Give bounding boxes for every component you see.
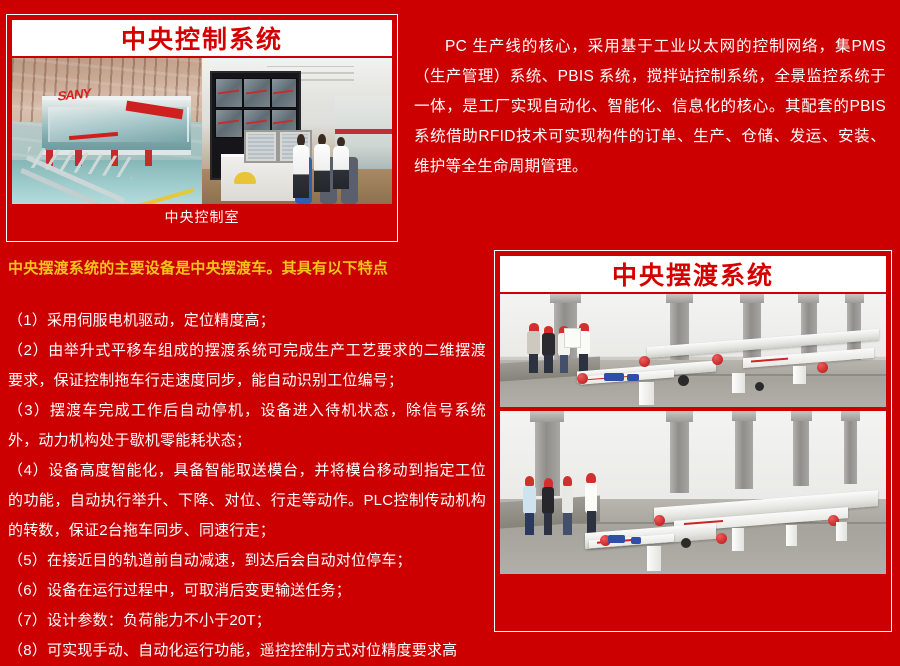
control-room-caption: 中央控制室 xyxy=(12,207,392,227)
panel-central-ferry-system: 中央摆渡系统 xyxy=(494,250,892,632)
feature-item: （7）设计参数：负荷能力不小于20T； xyxy=(8,606,486,636)
worker-figure xyxy=(542,326,554,373)
control-room-photo: SANY xyxy=(12,58,392,204)
feature-item: （6）设备在运行过程中，可取消后变更输送任务； xyxy=(8,576,486,606)
drawing-board xyxy=(564,328,581,348)
worker-figure xyxy=(542,478,554,535)
control-system-title-bar: 中央控制系统 xyxy=(12,20,392,56)
operator-person xyxy=(331,137,350,190)
control-system-title: 中央控制系统 xyxy=(121,20,283,56)
red-jack-stand xyxy=(145,150,152,166)
feature-item: （2）由举升式平移车组成的摆渡系统可完成生产工艺要求的二维摆渡要求，保证控制拖车… xyxy=(8,336,486,396)
feature-item: （1）采用伺服电机驱动，定位精度高； xyxy=(8,306,486,336)
console-monitor xyxy=(244,130,278,163)
control-room-scene xyxy=(202,58,392,204)
features-heading: 中央摆渡系统的主要设备是中央摆渡车。其具有以下特点 xyxy=(8,258,488,280)
operator-person xyxy=(312,134,331,192)
worker-figure xyxy=(523,476,535,535)
staircase-railing xyxy=(27,134,133,195)
ferry-system-title: 中央摆渡系统 xyxy=(612,256,774,292)
ferry-system-title-bar: 中央摆渡系统 xyxy=(500,256,886,292)
worker-figure xyxy=(527,323,540,373)
ferry-photo-bottom xyxy=(500,411,886,574)
feature-item: （4）设备高度智能化，具备智能取送模台，并将模台移动到指定工位的功能，自动执行举… xyxy=(8,456,486,546)
brochure-page: 中央控制系统 SANY xyxy=(0,0,900,641)
feature-item: （5）在接近目的轨道前自动减速，到达后会自动对位停车； xyxy=(8,546,486,576)
feature-item: （3）摆渡车完成工作后自动停机，设备进入待机状态，除信号系统外，动力机构处于歇机… xyxy=(8,396,486,456)
worker-figure xyxy=(562,476,574,535)
intro-paragraph: PC 生产线的核心，采用基于工业以太网的控制网络，集PMS（生产管理）系统、PB… xyxy=(414,32,886,182)
ferry-photo-top xyxy=(500,294,886,407)
operator-person xyxy=(291,134,310,198)
worker-figure xyxy=(585,473,597,535)
factory-mezzanine-scene: SANY xyxy=(12,58,202,204)
features-list: （1）采用伺服电机驱动，定位精度高； （2）由举升式平移车组成的摆渡系统可完成生… xyxy=(8,306,486,666)
panel-central-control-system: 中央控制系统 SANY xyxy=(6,14,398,242)
